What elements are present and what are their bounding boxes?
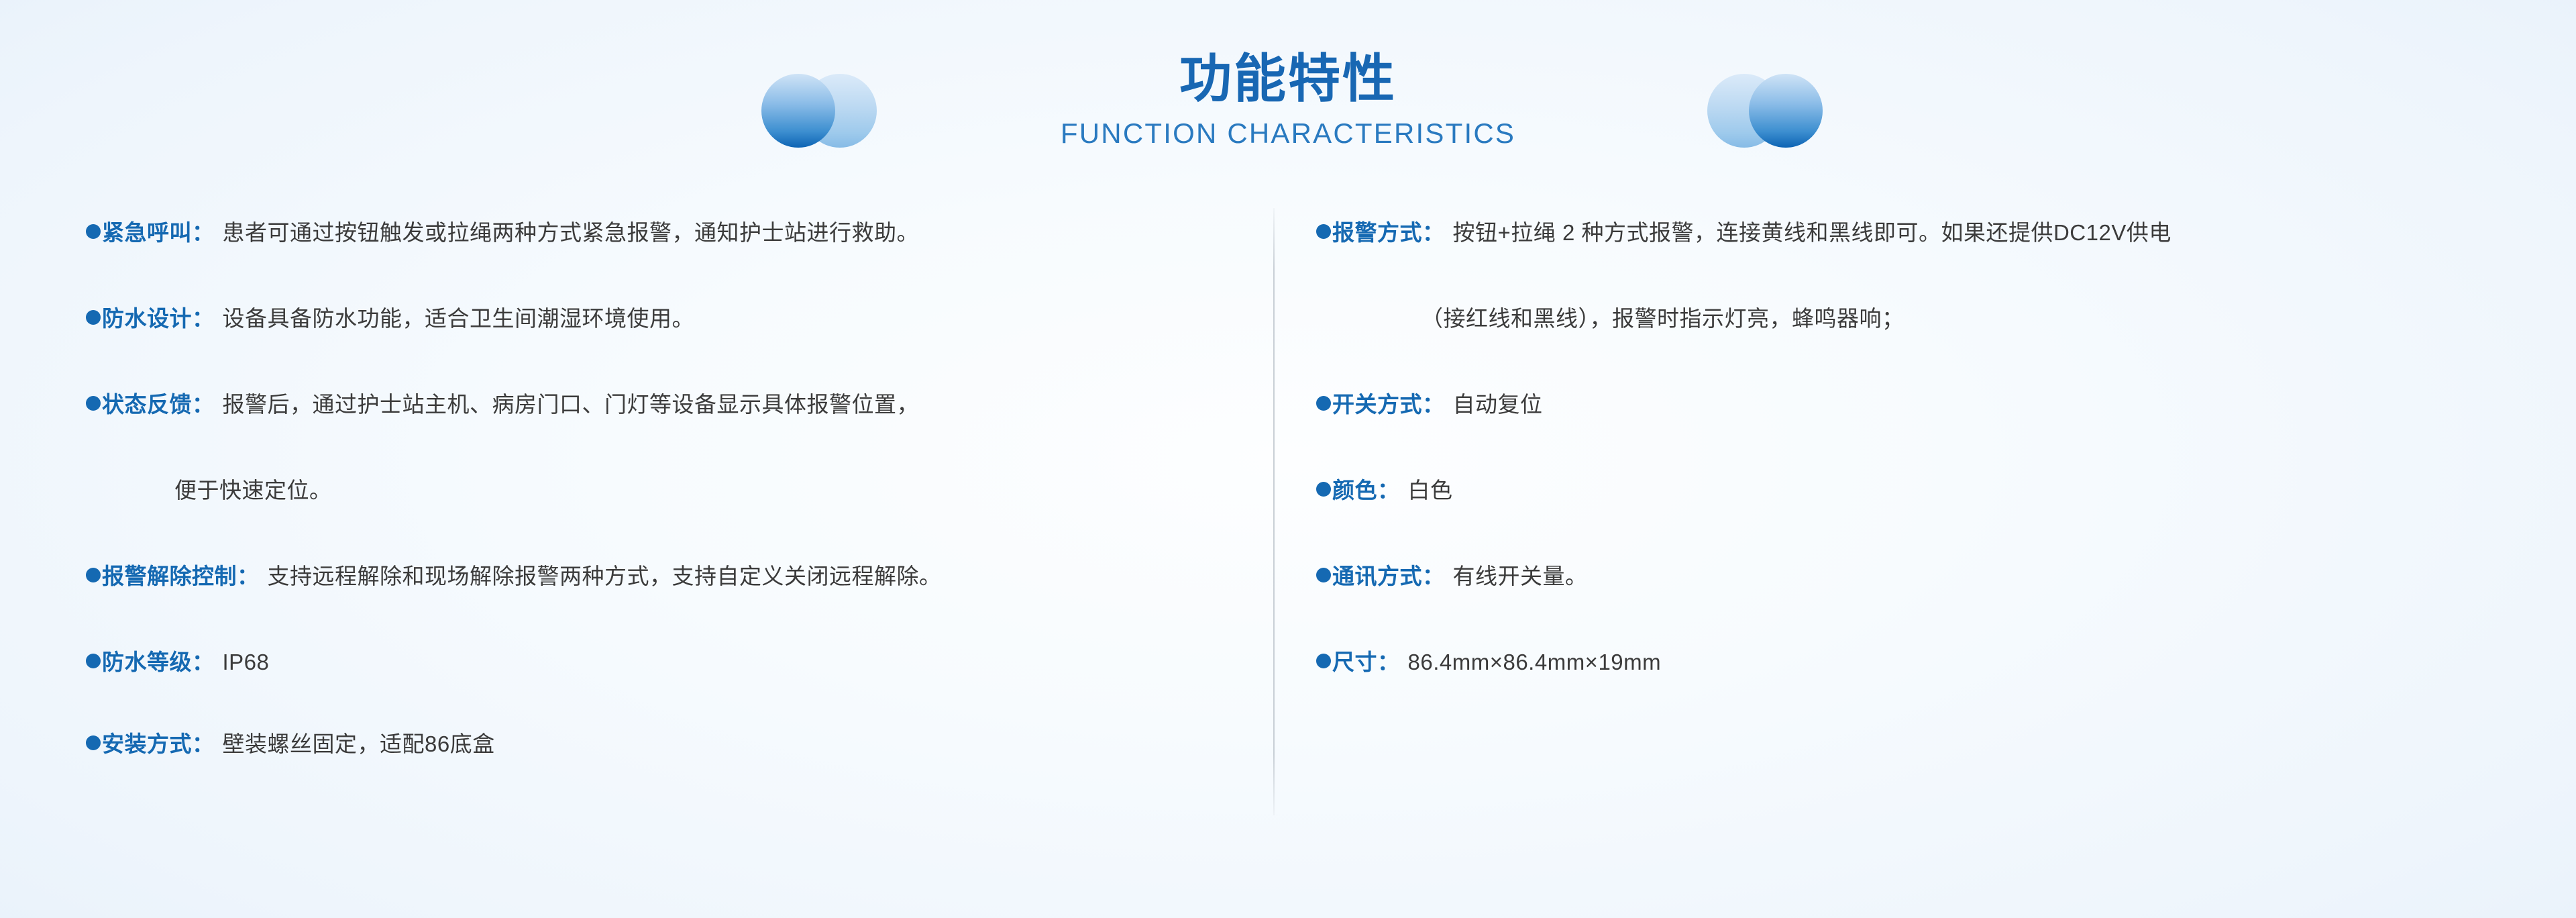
feature-label: 报警解除控制：	[102, 564, 260, 589]
feature-item-status-feedback: 状态反馈：报警后，通过护士站主机、病房门口、门灯等设备显示具体报警位置， 便于快…	[86, 393, 919, 519]
feature-line: 状态反馈：报警后，通过护士站主机、病房门口、门灯等设备显示具体报警位置，	[86, 393, 919, 433]
feature-line: 通讯方式：有线开关量。	[1316, 565, 1588, 605]
page-title: 功能特性	[0, 52, 2576, 105]
feature-body: 86.4mm×86.4mm×19mm	[1408, 650, 1662, 674]
feature-item-installation-method: 安装方式：壁装螺丝固定，适配86底盒	[86, 733, 495, 773]
feature-line-continued: 便于快速定位。	[86, 479, 919, 519]
bullet-icon	[86, 654, 101, 668]
feature-body-continued: 便于快速定位。	[174, 478, 332, 503]
column-divider	[1273, 208, 1275, 815]
title-block: 功能特性 FUNCTION CHARACTERISTICS	[0, 52, 2576, 148]
feature-item-communication-method: 通讯方式：有线开关量。	[1316, 565, 1588, 605]
feature-label: 通讯方式：	[1332, 564, 1445, 589]
feature-item-switch-method: 开关方式：自动复位	[1316, 393, 1543, 433]
feature-line: 防水设计：设备具备防水功能，适合卫生间潮湿环境使用。	[86, 307, 694, 348]
feature-line: 颜色：白色	[1316, 479, 1453, 519]
feature-line: 报警解除控制：支持远程解除和现场解除报警两种方式，支持自定义关闭远程解除。	[86, 565, 942, 605]
feature-label: 安装方式：	[102, 731, 215, 756]
feature-label: 尺寸：	[1332, 650, 1400, 674]
bullet-icon	[86, 310, 101, 325]
bullet-icon	[86, 568, 101, 582]
page-header: 功能特性 FUNCTION CHARACTERISTICS	[0, 0, 2576, 201]
feature-body: 自动复位	[1453, 392, 1543, 417]
feature-item-waterproof-rating: 防水等级：IP68	[86, 651, 269, 691]
feature-line: 报警方式：按钮+拉绳 2 种方式报警，连接黄线和黑线即可。如果还提供DC12V供…	[1316, 221, 2171, 262]
bullet-icon	[1316, 396, 1331, 411]
decorative-circles-right	[1707, 74, 1848, 154]
feature-item-alarm-release-control: 报警解除控制：支持远程解除和现场解除报警两种方式，支持自定义关闭远程解除。	[86, 565, 942, 605]
feature-label: 防水等级：	[102, 650, 215, 674]
feature-item-emergency-call: 紧急呼叫：患者可通过按钮触发或拉绳两种方式紧急报警，通知护士站进行救助。	[86, 221, 919, 262]
feature-item-waterproof-design: 防水设计：设备具备防水功能，适合卫生间潮湿环境使用。	[86, 307, 694, 348]
circle-dark-icon	[761, 74, 835, 148]
feature-label: 紧急呼叫：	[102, 220, 215, 245]
bullet-icon	[1316, 654, 1331, 668]
feature-line: 尺寸：86.4mm×86.4mm×19mm	[1316, 651, 1661, 691]
circle-dark-icon	[1749, 74, 1823, 148]
feature-label: 报警方式：	[1332, 220, 1445, 245]
bullet-icon	[1316, 568, 1331, 582]
feature-body: 有线开关量。	[1453, 564, 1588, 589]
feature-line: 防水等级：IP68	[86, 651, 269, 691]
feature-body-continued: （接红线和黑线），报警时指示灯亮，蜂鸣器响；	[1421, 306, 1904, 331]
bullet-icon	[1316, 482, 1331, 497]
feature-body: 白色	[1408, 478, 1453, 503]
feature-item-dimensions: 尺寸：86.4mm×86.4mm×19mm	[1316, 651, 1661, 691]
feature-body: 报警后，通过护士站主机、病房门口、门灯等设备显示具体报警位置，	[223, 392, 920, 417]
feature-item-alarm-method: 报警方式：按钮+拉绳 2 种方式报警，连接黄线和黑线即可。如果还提供DC12V供…	[1316, 221, 2171, 348]
feature-body: 按钮+拉绳 2 种方式报警，连接黄线和黑线即可。如果还提供DC12V供电	[1453, 220, 2171, 245]
feature-characteristics-page: 功能特性 FUNCTION CHARACTERISTICS 紧急呼叫：患者可通过…	[0, 0, 2576, 918]
bullet-icon	[1316, 224, 1331, 239]
feature-body: 支持远程解除和现场解除报警两种方式，支持自定义关闭远程解除。	[268, 564, 942, 589]
feature-line: 开关方式：自动复位	[1316, 393, 1543, 433]
feature-line: 安装方式：壁装螺丝固定，适配86底盒	[86, 733, 495, 773]
feature-body: IP68	[223, 650, 270, 674]
feature-body: 患者可通过按钮触发或拉绳两种方式紧急报警，通知护士站进行救助。	[223, 220, 920, 245]
feature-label: 颜色：	[1332, 478, 1400, 503]
feature-body: 设备具备防水功能，适合卫生间潮湿环境使用。	[223, 306, 695, 331]
page-subtitle: FUNCTION CHARACTERISTICS	[0, 119, 2576, 148]
feature-label: 状态反馈：	[102, 392, 215, 417]
bullet-icon	[86, 224, 101, 239]
feature-label: 开关方式：	[1332, 392, 1445, 417]
feature-line: 紧急呼叫：患者可通过按钮触发或拉绳两种方式紧急报警，通知护士站进行救助。	[86, 221, 919, 262]
feature-item-color: 颜色：白色	[1316, 479, 1453, 519]
bullet-icon	[86, 735, 101, 750]
feature-body: 壁装螺丝固定，适配86底盒	[223, 731, 495, 756]
feature-label: 防水设计：	[102, 306, 215, 331]
feature-line-continued: （接红线和黑线），报警时指示灯亮，蜂鸣器响；	[1316, 307, 2171, 348]
bullet-icon	[86, 396, 101, 411]
